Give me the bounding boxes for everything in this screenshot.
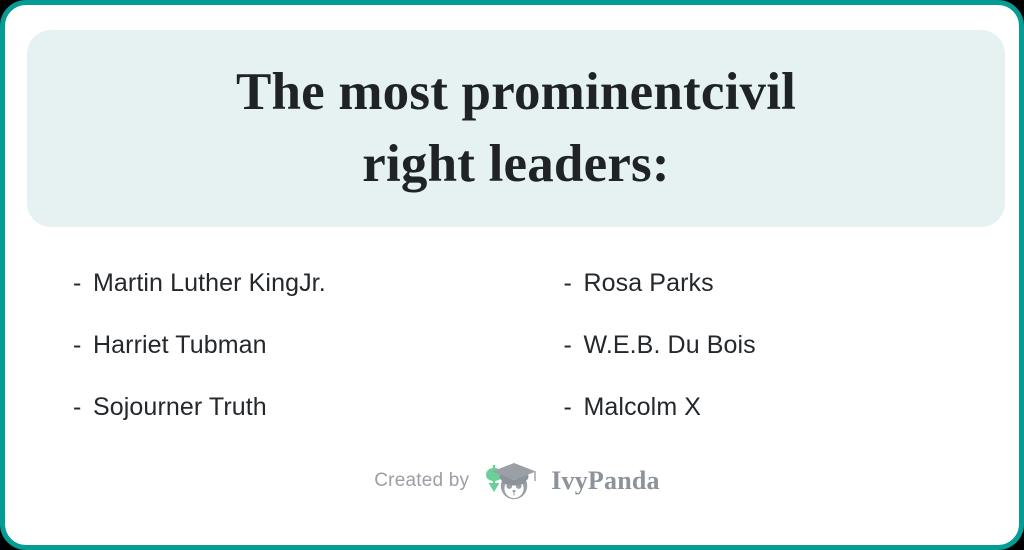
leaders-list: - Martin Luther KingJr. - Harriet Tubman… — [5, 253, 1024, 438]
leaders-list-right-column: - Rosa Parks - W.E.B. Du Bois - Malcolm … — [539, 253, 1024, 438]
list-item-label: Harriet Tubman — [93, 331, 267, 360]
list-bullet-dash: - — [73, 393, 93, 422]
list-item: - Martin Luther KingJr. — [73, 253, 539, 315]
created-by-label: Created by — [374, 470, 469, 492]
list-bullet-dash: - — [564, 269, 584, 298]
leaders-list-left-column: - Martin Luther KingJr. - Harriet Tubman… — [5, 253, 539, 438]
list-item: - Malcolm X — [564, 376, 1024, 438]
title-panel: The most prominentcivil right leaders: — [27, 30, 1005, 227]
infographic-card: The most prominentcivil right leaders: -… — [0, 0, 1024, 550]
list-item: - Harriet Tubman — [73, 315, 539, 377]
panda-graduate-icon — [481, 459, 539, 503]
list-item: - W.E.B. Du Bois — [564, 315, 1024, 377]
list-bullet-dash: - — [73, 269, 93, 298]
title-line-2: right leaders: — [362, 135, 669, 193]
list-item-label: W.E.B. Du Bois — [584, 331, 756, 360]
list-bullet-dash: - — [564, 331, 584, 360]
list-item-label: Sojourner Truth — [93, 393, 267, 422]
list-item-label: Rosa Parks — [584, 269, 714, 298]
brand-name: IvyPanda — [551, 466, 660, 496]
title-line-1: The most prominentcivil — [236, 63, 796, 121]
list-item-label: Martin Luther KingJr. — [93, 269, 326, 298]
footer-attribution: Created by — [5, 459, 1024, 503]
list-bullet-dash: - — [564, 393, 584, 422]
list-item: - Rosa Parks — [564, 253, 1024, 315]
list-item-label: Malcolm X — [584, 393, 702, 422]
list-bullet-dash: - — [73, 331, 93, 360]
page-title: The most prominentcivil right leaders: — [226, 57, 806, 200]
list-item: - Sojourner Truth — [73, 376, 539, 438]
